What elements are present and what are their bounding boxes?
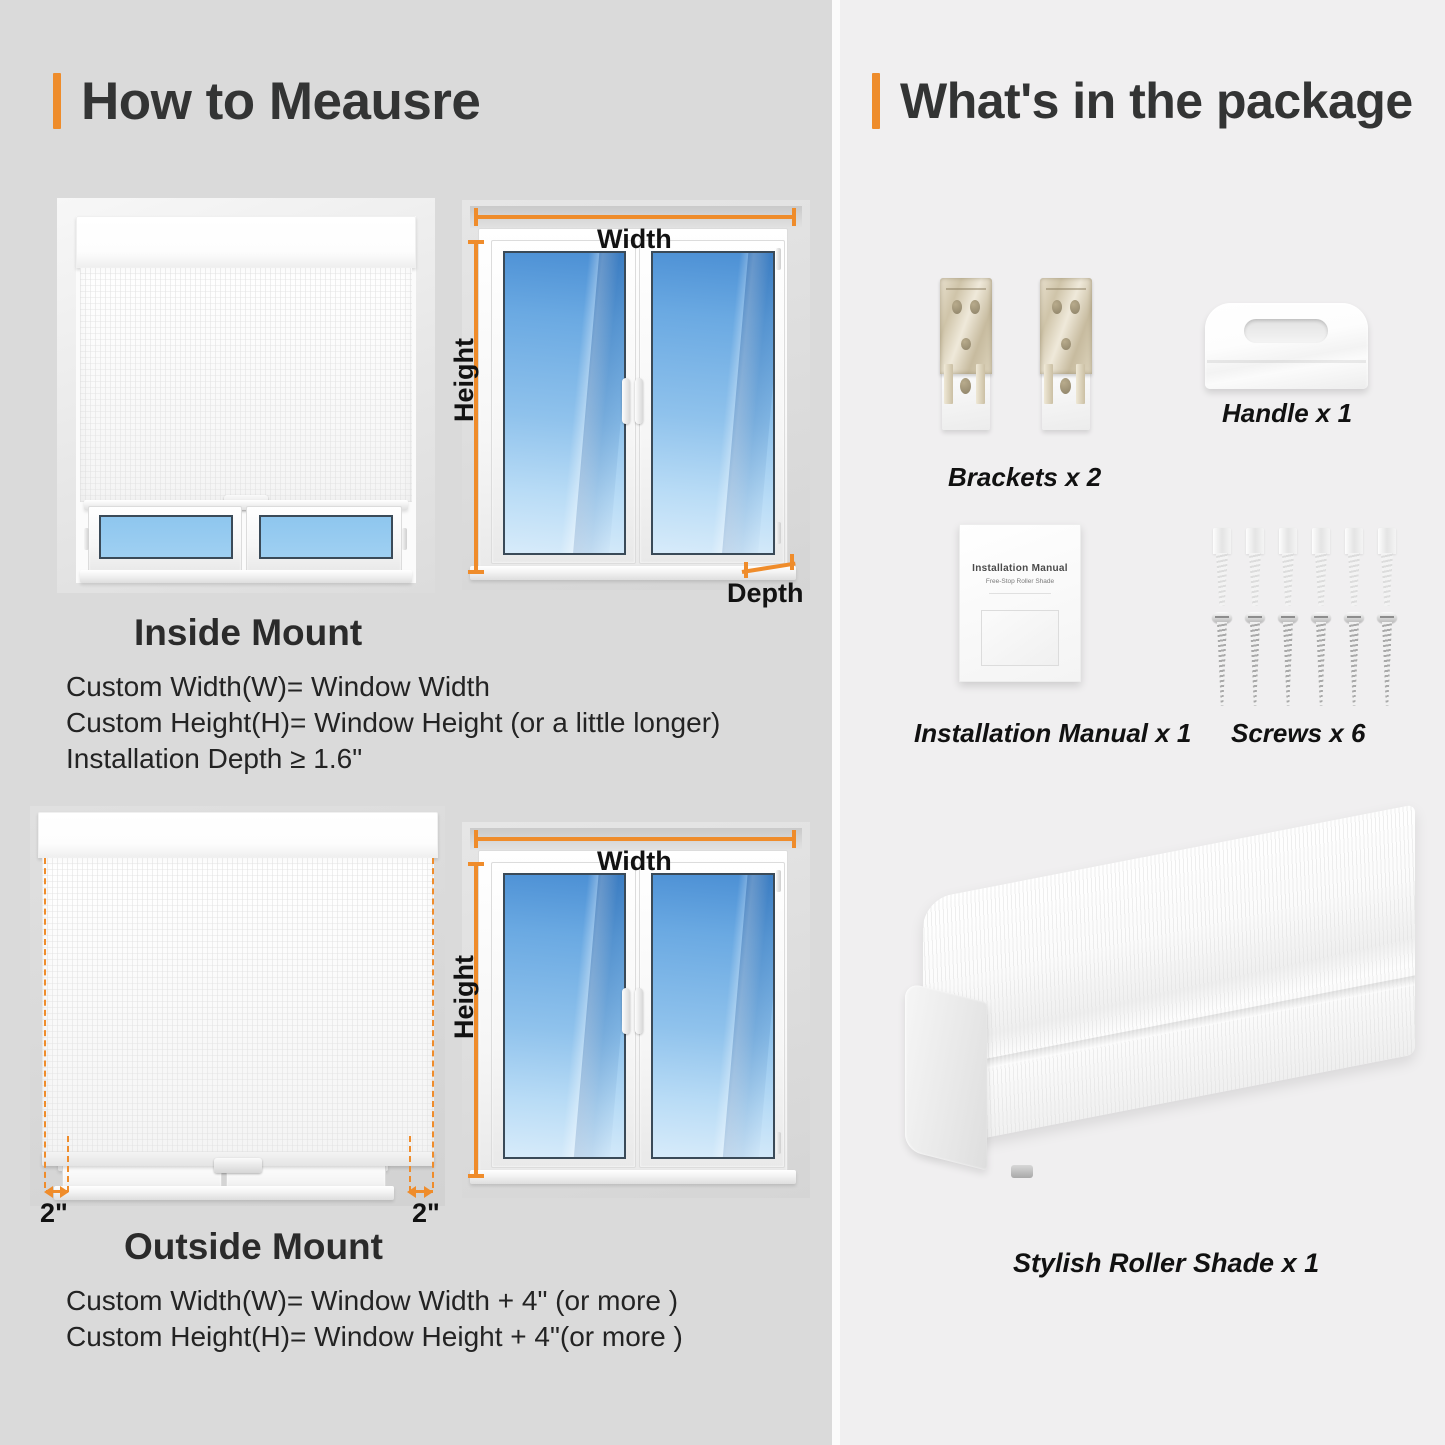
panel-divider [832,0,840,1445]
screws-label: Screws x 6 [1231,718,1365,749]
infographic-canvas: How to Meausre What's in the package [0,0,1445,1445]
inside-mount-line-2: Custom Height(H)= Window Height (or a li… [66,707,720,739]
bracket-hardware-icon [1038,278,1094,430]
manual-cover-subtitle: Free-Stop Roller Shade [986,578,1054,585]
handle-icon [1205,303,1368,389]
manual-label: Installation Manual x 1 [914,718,1191,749]
right-overhang-guide [432,858,434,1188]
inside-mount-heading: Inside Mount [134,612,362,654]
handle-label: Handle x 1 [1222,398,1352,429]
brackets-label: Brackets x 2 [948,462,1101,493]
accent-bar-icon [872,73,880,129]
how-to-measure-title: How to Meausre [53,73,480,129]
bracket-hardware-icon [938,278,994,430]
width-label: Width [597,224,672,255]
outside-mount-line-1: Custom Width(W)= Window Width + 4" (or m… [66,1285,678,1317]
page-title-right: What's in the package [900,76,1413,126]
roller-shade-label: Stylish Roller Shade x 1 [1013,1248,1319,1279]
shade-headrail [38,812,438,858]
shade-headrail [76,216,416,268]
manual-cover-title: Installation Manual [972,563,1068,574]
inside-mount-line-3: Installation Depth ≥ 1.6" [66,743,362,775]
outside-mount-heading: Outside Mount [124,1226,383,1268]
package-contents-title: What's in the package [872,73,1413,129]
shade-pull-tab [214,1158,262,1173]
outside-mount-line-2: Custom Height(H)= Window Height + 4"(or … [66,1321,683,1353]
roller-shade-icon [905,900,1415,1210]
inside-mount-line-1: Custom Width(W)= Window Width [66,671,490,703]
window-handles-icon [622,378,643,424]
height-label: Height [449,338,480,422]
window-handles-icon [622,988,643,1034]
width-label: Width [597,846,672,877]
height-label: Height [449,955,480,1039]
width-dimension-line [474,837,796,841]
overhang-right-label: 2" [412,1198,440,1229]
shade-fabric [80,268,412,502]
width-dimension-line [474,215,796,219]
page-title-left: How to Meausre [81,75,480,128]
accent-bar-icon [53,73,61,129]
left-overhang-guide [44,858,46,1188]
depth-label: Depth [727,578,804,609]
overhang-left-label: 2" [40,1198,68,1229]
shade-fabric [42,858,434,1158]
manual-booklet-icon: Installation Manual Free-Stop Roller Sha… [959,524,1081,682]
